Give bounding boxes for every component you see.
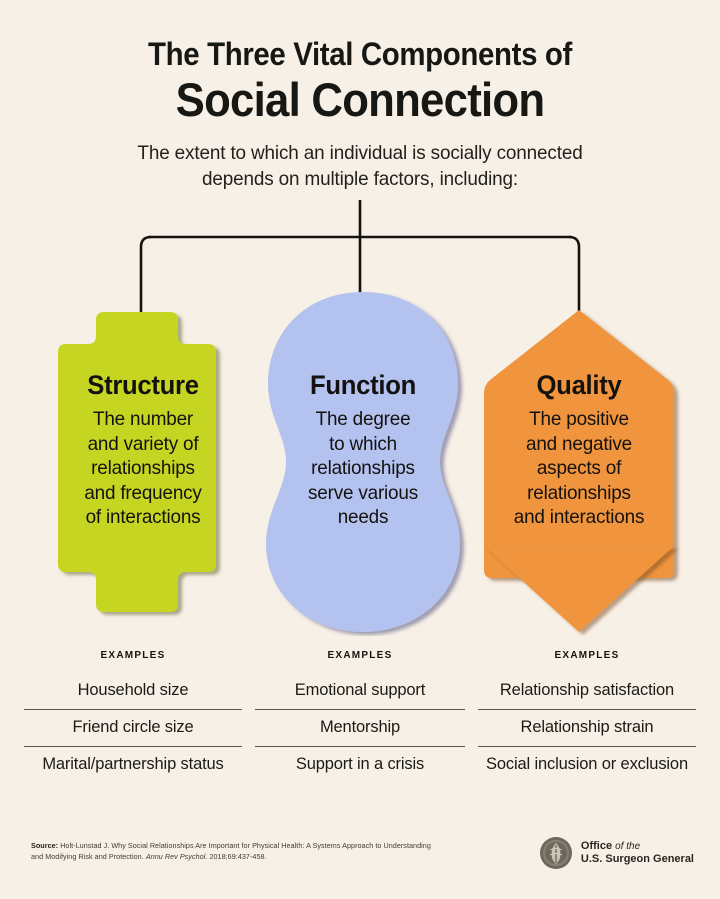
examples-label-function: EXAMPLES [255,650,465,661]
example-item: Relationship strain [478,709,696,746]
infographic-poster: The Three Vital Components of Social Con… [0,0,720,899]
examples-label-structure: EXAMPLES [24,650,242,661]
seal-office-word: Office [581,840,612,852]
card-body-function: The degree to which relationships serve … [257,407,468,530]
card-text-quality: Quality The positive and negative aspect… [470,370,688,530]
surgeon-general-lockup: Office of the U.S. Surgeon General [539,836,694,870]
example-item: Friend circle size [24,709,242,746]
card-body-line: serve various [257,481,468,506]
card-heading-structure: Structure [39,370,246,400]
examples-column-structure: EXAMPLES Household size Friend circle si… [24,650,242,783]
source-citation: Source: Holt-Lunstad J. Why Social Relat… [31,841,441,862]
examples-section: EXAMPLES Household size Friend circle si… [0,650,720,783]
card-body-line: to which [257,432,468,457]
card-body-line: needs [257,505,468,530]
card-body-structure: The number and variety of relationships … [37,407,248,530]
card-body-line: aspects of [473,456,684,481]
examples-column-function: EXAMPLES Emotional support Mentorship Su… [255,650,465,783]
seal-wordmark: Office of the U.S. Surgeon General [581,840,694,866]
seal-line-1: Office of the [581,840,694,853]
source-prefix: Source: [31,841,58,850]
card-body-line: and variety of [37,432,248,457]
card-body-line: of interactions [37,505,248,530]
card-body-line: and negative [473,432,684,457]
examples-label-quality: EXAMPLES [478,650,696,661]
card-body-quality: The positive and negative aspects of rel… [473,407,684,530]
card-body-line: The number [37,407,248,432]
card-body-line: relationships [473,481,684,506]
example-item: Marital/partnership status [24,746,242,783]
card-text-structure: Structure The number and variety of rela… [34,370,252,530]
example-item: Household size [24,673,242,709]
card-body-line: The degree [257,407,468,432]
examples-column-quality: EXAMPLES Relationship satisfaction Relat… [478,650,696,783]
example-item: Mentorship [255,709,465,746]
card-body-line: The positive [473,407,684,432]
example-item: Relationship satisfaction [478,673,696,709]
surgeon-general-seal-icon [539,836,573,870]
poster-footer: Source: Holt-Lunstad J. Why Social Relat… [0,827,720,899]
card-body-line: relationships [257,456,468,481]
card-body-line: and frequency [37,481,248,506]
card-heading-function: Function [259,370,466,400]
card-body-line: and interactions [473,505,684,530]
example-item: Support in a crisis [255,746,465,783]
card-body-line: relationships [37,456,248,481]
example-item: Social inclusion or exclusion [478,746,696,783]
source-volume: 2018;69:437-458. [207,852,266,861]
card-text-function: Function The degree to which relationshi… [254,370,472,530]
source-journal: Annu Rev Psychol. [146,852,208,861]
card-heading-quality: Quality [475,370,682,400]
seal-ofthe-word: of the [615,841,640,852]
seal-line-2: U.S. Surgeon General [581,853,694,866]
example-item: Emotional support [255,673,465,709]
